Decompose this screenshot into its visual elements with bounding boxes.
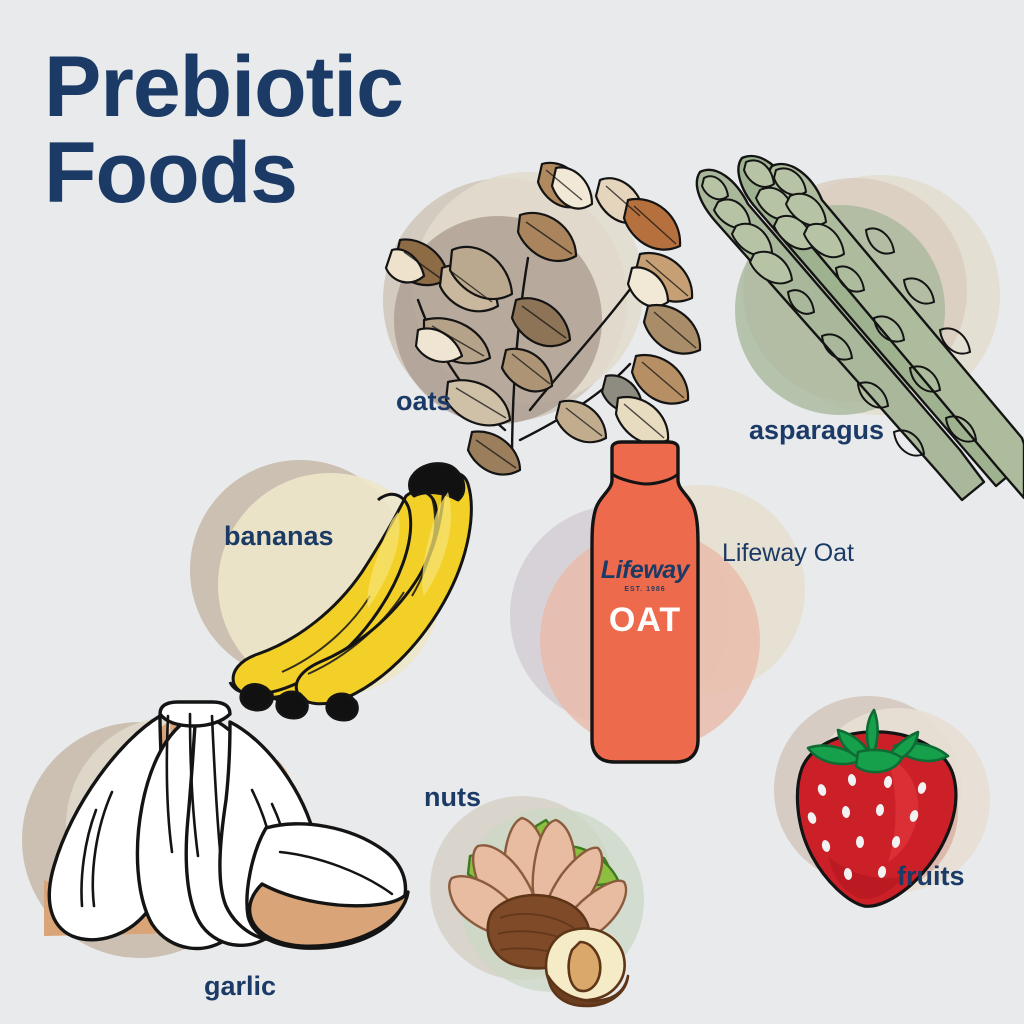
label-oats: oats [396,386,452,417]
page-title: Prebiotic Foods [44,44,504,216]
label-lifeway-oat: Lifeway Oat [722,539,854,568]
label-asparagus: asparagus [749,415,884,446]
prebiotic-foods-poster: Lifeway EST. 1986 OAT Prebiotic Foods oa… [0,0,1024,1024]
bottle-brand-arc-text: EST. 1986 [592,586,698,593]
label-fruits: fruits [897,861,965,892]
bottle-label-block: Lifeway EST. 1986 OAT [592,556,698,640]
label-garlic: garlic [204,971,276,1002]
label-nuts: nuts [424,782,481,813]
bottle-brand-text: Lifeway [592,556,698,585]
label-bananas: bananas [224,521,334,552]
bottle-variant-text: OAT [592,601,698,640]
